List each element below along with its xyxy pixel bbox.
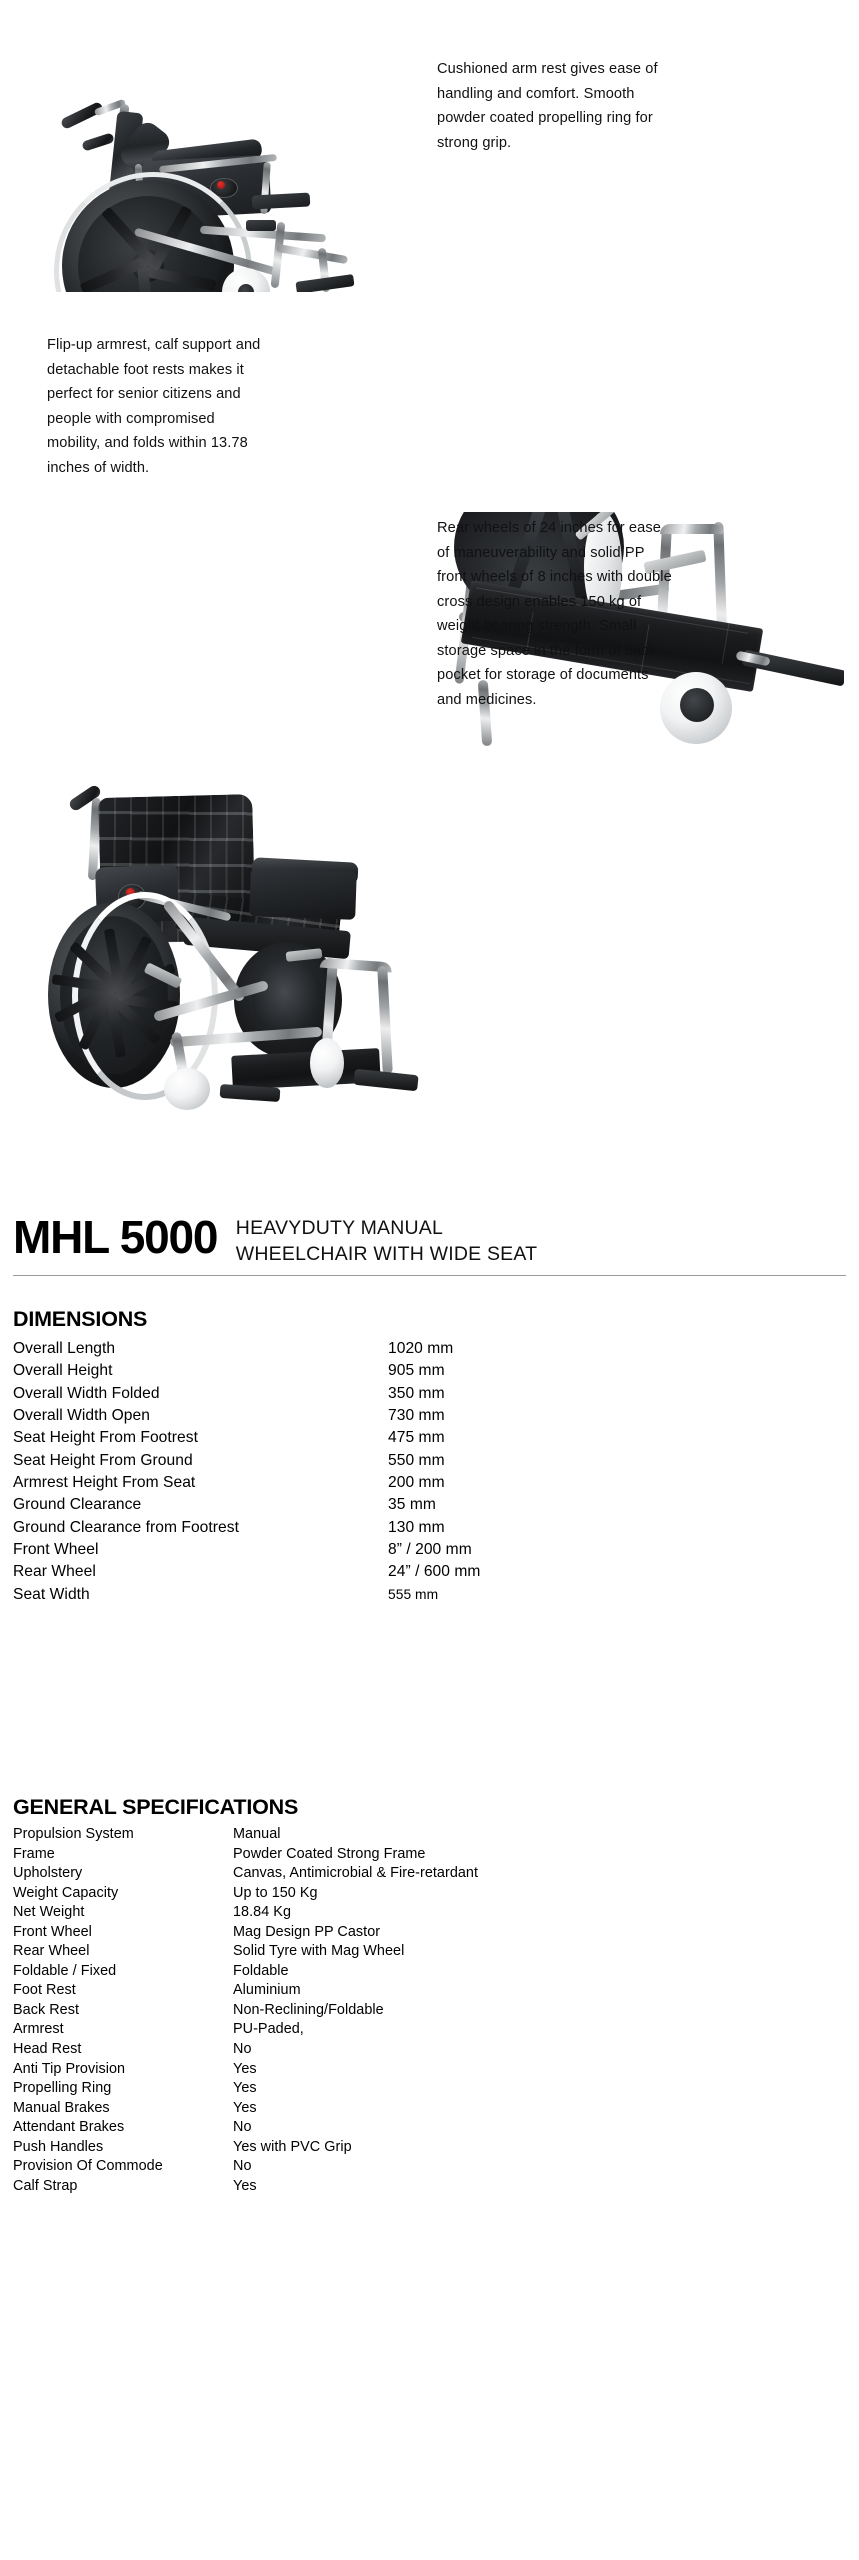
dimension-row: Armrest Height From Seat200 mm bbox=[13, 1472, 846, 1494]
dimension-label: Rear Wheel bbox=[13, 1561, 388, 1583]
dimension-row: Overall Height905 mm bbox=[13, 1360, 846, 1382]
general-spec-label: Manual Brakes bbox=[13, 2099, 233, 2119]
dimension-label: Seat Width bbox=[13, 1584, 388, 1606]
front-caster-hub-detail bbox=[680, 688, 714, 722]
dimension-label: Overall Width Folded bbox=[13, 1383, 388, 1405]
dimensions-section: DIMENSIONS Overall Length1020 mmOverall … bbox=[13, 1307, 846, 1606]
dimension-label: Overall Length bbox=[13, 1338, 388, 1360]
product-photo-three-quarter bbox=[24, 782, 424, 1110]
dimension-row: Overall Width Folded350 mm bbox=[13, 1383, 846, 1405]
general-spec-label: Calf Strap bbox=[13, 2177, 233, 2197]
dimension-label: Overall Width Open bbox=[13, 1405, 388, 1427]
model-code: MHL 5000 bbox=[13, 1214, 217, 1260]
footplate-front-right bbox=[353, 1069, 418, 1092]
general-spec-row: Manual BrakesYes bbox=[13, 2099, 846, 2119]
general-spec-label: Foot Rest bbox=[13, 1981, 233, 2001]
general-spec-label: Propulsion System bbox=[13, 1825, 233, 1845]
wheel-brake-lever bbox=[246, 220, 276, 231]
front-caster-right bbox=[310, 1038, 344, 1088]
general-spec-value: PU-Paded, bbox=[233, 2020, 846, 2040]
footplate-front-left bbox=[220, 1084, 281, 1102]
dimension-label: Seat Height From Ground bbox=[13, 1450, 388, 1472]
general-spec-value: Foldable bbox=[233, 1962, 846, 1982]
push-handle-lower bbox=[81, 132, 115, 151]
dimension-row: Ground Clearance from Footrest130 mm bbox=[13, 1517, 846, 1539]
general-spec-label: Foldable / Fixed bbox=[13, 1962, 233, 1982]
feature-text-flipup: Flip-up armrest, calf support and detach… bbox=[47, 333, 266, 480]
dimension-value: 200 mm bbox=[388, 1472, 846, 1494]
dimension-value: 35 mm bbox=[388, 1494, 846, 1516]
general-specifications-section: GENERAL SPECIFICATIONS Propulsion System… bbox=[13, 1795, 846, 2196]
front-caster-left bbox=[164, 1068, 210, 1110]
general-spec-value: Canvas, Antimicrobial & Fire-retardant bbox=[233, 1864, 846, 1884]
general-spec-value: 18.84 Kg bbox=[233, 1903, 846, 1923]
general-spec-value: No bbox=[233, 2157, 846, 2177]
general-spec-label: Armrest bbox=[13, 2020, 233, 2040]
general-spec-label: Weight Capacity bbox=[13, 1884, 233, 1904]
general-spec-value: Mag Design PP Castor bbox=[233, 1923, 846, 1943]
dimension-value: 475 mm bbox=[388, 1427, 846, 1449]
dimension-value: 24” / 600 mm bbox=[388, 1561, 846, 1583]
general-spec-label: Front Wheel bbox=[13, 1923, 233, 1943]
dimension-row: Seat Height From Ground550 mm bbox=[13, 1450, 846, 1472]
general-spec-row: Calf StrapYes bbox=[13, 2177, 846, 2197]
dimension-label: Seat Height From Footrest bbox=[13, 1427, 388, 1449]
dimension-row: Seat Width555 mm bbox=[13, 1584, 846, 1606]
dimension-value: 730 mm bbox=[388, 1405, 846, 1427]
model-description-line-1: HEAVYDUTY MANUAL bbox=[236, 1217, 443, 1239]
dimension-row: Seat Height From Footrest475 mm bbox=[13, 1427, 846, 1449]
general-spec-row: Provision Of CommodeNo bbox=[13, 2157, 846, 2177]
footrest-support-arm bbox=[276, 244, 348, 264]
general-spec-value: Yes bbox=[233, 2060, 846, 2080]
general-spec-value: Yes bbox=[233, 2079, 846, 2099]
dimension-row: Rear Wheel24” / 600 mm bbox=[13, 1561, 846, 1583]
general-spec-row: Front WheelMag Design PP Castor bbox=[13, 1923, 846, 1943]
general-spec-row: Foldable / FixedFoldable bbox=[13, 1962, 846, 1982]
dimension-row: Overall Width Open730 mm bbox=[13, 1405, 846, 1427]
dimension-label: Overall Height bbox=[13, 1360, 388, 1382]
brand-logo-mark bbox=[217, 181, 225, 189]
dimension-value: 8” / 200 mm bbox=[388, 1539, 846, 1561]
general-spec-label: Anti Tip Provision bbox=[13, 2060, 233, 2080]
general-spec-label: Push Handles bbox=[13, 2138, 233, 2158]
dimension-value: 350 mm bbox=[388, 1383, 846, 1405]
general-spec-row: UpholsteryCanvas, Antimicrobial & Fire-r… bbox=[13, 1864, 846, 1884]
side-panel-far bbox=[249, 868, 357, 920]
dimension-label: Ground Clearance bbox=[13, 1494, 388, 1516]
dimension-value: 550 mm bbox=[388, 1450, 846, 1472]
dimension-value: 905 mm bbox=[388, 1360, 846, 1382]
dimension-value: 555 mm bbox=[388, 1584, 846, 1606]
general-spec-row: Propelling RingYes bbox=[13, 2079, 846, 2099]
general-spec-row: Net Weight18.84 Kg bbox=[13, 1903, 846, 1923]
dimensions-heading: DIMENSIONS bbox=[13, 1307, 846, 1332]
general-spec-value: Up to 150 Kg bbox=[233, 1884, 846, 1904]
general-spec-row: Push HandlesYes with PVC Grip bbox=[13, 2138, 846, 2158]
general-spec-value: Yes with PVC Grip bbox=[233, 2138, 846, 2158]
dimension-row: Front Wheel8” / 200 mm bbox=[13, 1539, 846, 1561]
general-spec-label: Head Rest bbox=[13, 2040, 233, 2060]
general-spec-label: Frame bbox=[13, 1845, 233, 1865]
dimension-value: 130 mm bbox=[388, 1517, 846, 1539]
general-spec-label: Upholstery bbox=[13, 1864, 233, 1884]
model-description: HEAVYDUTY MANUAL WHEELCHAIR WITH WIDE SE… bbox=[236, 1214, 537, 1267]
general-spec-value: No bbox=[233, 2040, 846, 2060]
general-spec-row: Back RestNon-Reclining/Foldable bbox=[13, 2001, 846, 2021]
general-spec-row: Attendant BrakesNo bbox=[13, 2118, 846, 2138]
general-spec-row: Propulsion SystemManual bbox=[13, 1825, 846, 1845]
dimension-label: Front Wheel bbox=[13, 1539, 388, 1561]
general-spec-row: ArmrestPU-Paded, bbox=[13, 2020, 846, 2040]
feature-text-armrest: Cushioned arm rest gives ease of handlin… bbox=[437, 57, 661, 155]
general-spec-value: Solid Tyre with Mag Wheel bbox=[233, 1942, 846, 1962]
general-spec-row: Rear WheelSolid Tyre with Mag Wheel bbox=[13, 1942, 846, 1962]
general-spec-label: Propelling Ring bbox=[13, 2079, 233, 2099]
dimension-label: Ground Clearance from Footrest bbox=[13, 1517, 388, 1539]
general-spec-value: Aluminium bbox=[233, 1981, 846, 2001]
seat-base bbox=[252, 192, 311, 209]
general-specifications-heading: GENERAL SPECIFICATIONS bbox=[13, 1795, 846, 1820]
general-spec-row: Foot RestAluminium bbox=[13, 1981, 846, 2001]
product-title-block: MHL 5000 HEAVYDUTY MANUAL WHEELCHAIR WIT… bbox=[13, 1214, 846, 1276]
general-spec-row: Head RestNo bbox=[13, 2040, 846, 2060]
dimension-row: Overall Length1020 mm bbox=[13, 1338, 846, 1360]
general-specifications-table: Propulsion SystemManualFramePowder Coate… bbox=[13, 1825, 846, 2196]
general-spec-value: Powder Coated Strong Frame bbox=[233, 1845, 846, 1865]
feature-text-wheels: Rear wheels of 24 inches for ease of man… bbox=[437, 516, 675, 712]
general-spec-row: Anti Tip ProvisionYes bbox=[13, 2060, 846, 2080]
model-description-line-2: WHEELCHAIR WITH WIDE SEAT bbox=[236, 1243, 537, 1265]
general-spec-row: FramePowder Coated Strong Frame bbox=[13, 1845, 846, 1865]
general-spec-label: Provision Of Commode bbox=[13, 2157, 233, 2177]
title-divider-rule bbox=[13, 1275, 846, 1276]
dimensions-table: Overall Length1020 mmOverall Height905 m… bbox=[13, 1338, 846, 1606]
dimension-row: Ground Clearance35 mm bbox=[13, 1494, 846, 1516]
dimension-label: Armrest Height From Seat bbox=[13, 1472, 388, 1494]
general-spec-label: Attendant Brakes bbox=[13, 2118, 233, 2138]
general-spec-value: Manual bbox=[233, 1825, 846, 1845]
general-spec-value: Yes bbox=[233, 2099, 846, 2119]
general-spec-row: Weight CapacityUp to 150 Kg bbox=[13, 1884, 846, 1904]
general-spec-value: Yes bbox=[233, 2177, 846, 2197]
general-spec-label: Back Rest bbox=[13, 2001, 233, 2021]
general-spec-value: Non-Reclining/Foldable bbox=[233, 2001, 846, 2021]
dimension-value: 1020 mm bbox=[388, 1338, 846, 1360]
product-photo-side-view bbox=[24, 52, 354, 292]
general-spec-value: No bbox=[233, 2118, 846, 2138]
general-spec-label: Rear Wheel bbox=[13, 1942, 233, 1962]
general-spec-label: Net Weight bbox=[13, 1903, 233, 1923]
